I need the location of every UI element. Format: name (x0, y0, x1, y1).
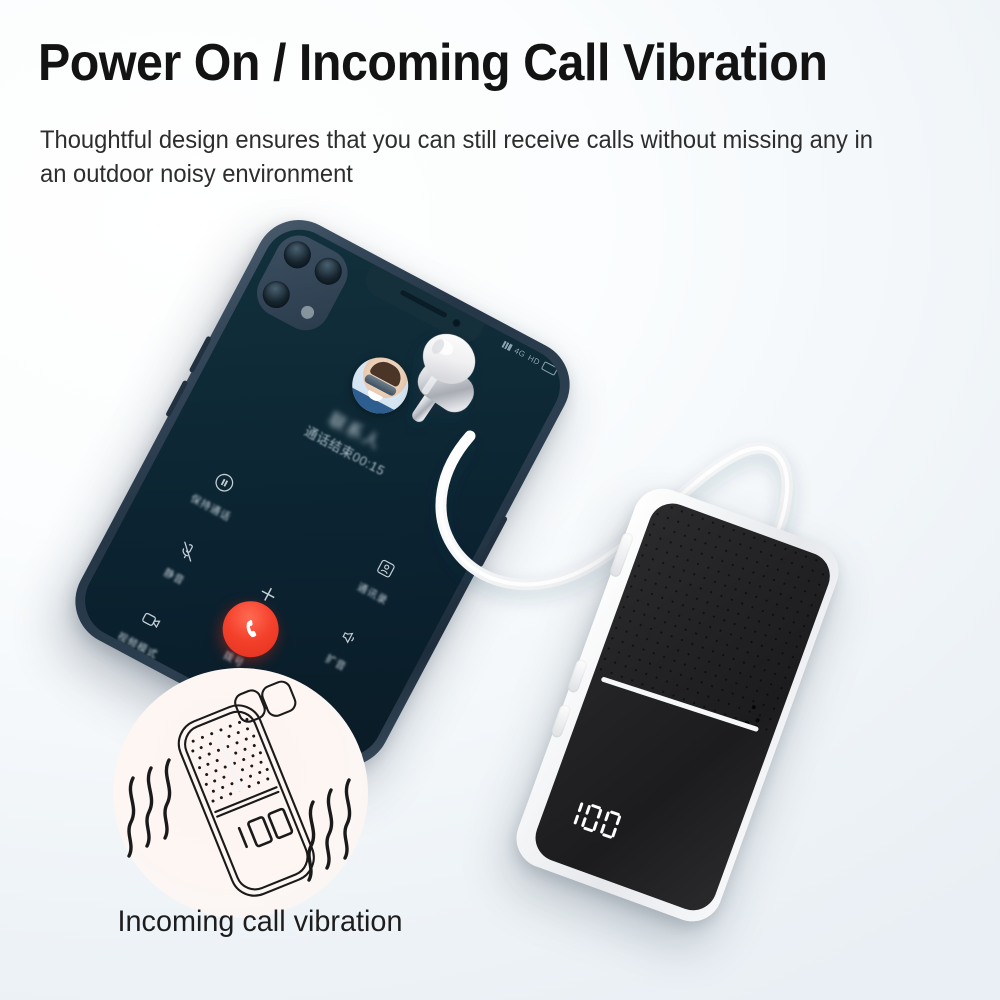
camera-lens-icon (258, 276, 295, 313)
camera-lens-icon (279, 237, 316, 274)
pause-icon (207, 465, 242, 500)
signal-bars-icon (502, 341, 513, 351)
mute-icon (170, 534, 205, 569)
video-icon (133, 603, 168, 638)
led-digit-2 (580, 803, 603, 833)
vibration-waves-left (129, 760, 170, 856)
led-digit-1 (561, 796, 584, 826)
hd-label: HD (526, 353, 541, 367)
phone-handset-icon (233, 611, 268, 646)
led-digit-3 (599, 809, 622, 839)
device-clip-outline (232, 676, 298, 729)
bluetooth-receiver-device (508, 480, 847, 929)
illustration-lineart (95, 660, 395, 910)
camera-lens-icon (310, 253, 347, 290)
page-subtitle: Thoughtful design ensures that you can s… (40, 124, 895, 192)
product-marketing-image: Power On / Incoming Call Vibration Thoug… (0, 0, 1000, 1000)
network-label: 4G (513, 346, 527, 359)
vibration-illustration: Incoming call vibration (95, 660, 395, 950)
contacts-icon (368, 551, 403, 586)
call-action-contacts[interactable]: 通讯录 (329, 536, 432, 621)
vibration-waves-right (309, 780, 350, 880)
page-title: Power On / Incoming Call Vibration (38, 36, 894, 91)
illustration-caption: Incoming call vibration (58, 905, 461, 939)
caller-avatar (342, 347, 418, 423)
camera-flash-icon (299, 304, 317, 322)
call-action-label: 静音 (161, 564, 187, 588)
illustration-led-100 (238, 808, 292, 850)
speaker-icon (332, 620, 367, 655)
led-display (561, 796, 622, 839)
front-camera-icon (451, 317, 462, 328)
device-body-outline (172, 698, 321, 903)
